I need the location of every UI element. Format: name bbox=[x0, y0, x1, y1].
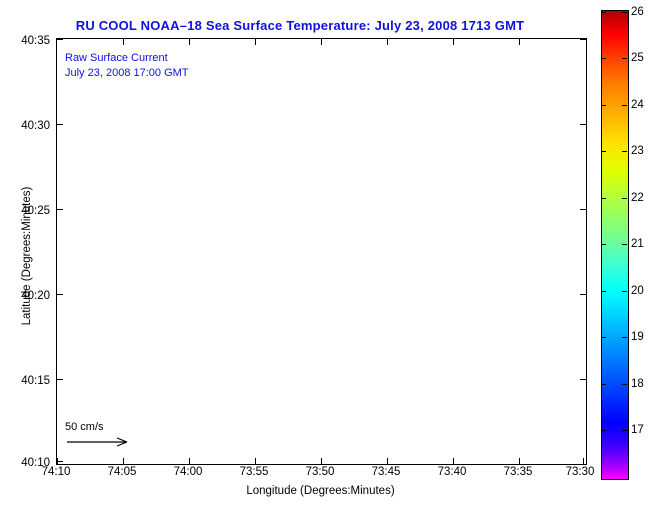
ytick-label: 40:30 bbox=[0, 120, 50, 132]
colorbar-label: 26 bbox=[631, 6, 644, 18]
colorbar-tick bbox=[601, 12, 606, 13]
xtick-label: 73:50 bbox=[306, 466, 335, 478]
colorbar-tick bbox=[601, 244, 606, 245]
xtick bbox=[189, 458, 190, 464]
xtick bbox=[123, 458, 124, 464]
xtick-top bbox=[321, 39, 322, 45]
colorbar-tick bbox=[601, 291, 606, 292]
colorbar-label: 22 bbox=[631, 192, 644, 204]
ytick bbox=[57, 39, 63, 40]
colorbar-tick-right bbox=[622, 291, 627, 292]
colorbar-tick bbox=[601, 430, 606, 431]
vector-scale-label: 50 cm/s bbox=[65, 421, 135, 433]
colorbar-tick bbox=[601, 58, 606, 59]
colorbar-tick bbox=[601, 105, 606, 106]
xtick-label: 73:45 bbox=[372, 466, 401, 478]
xtick bbox=[321, 458, 322, 464]
colorbar-tick bbox=[601, 151, 606, 152]
colorbar-label: 23 bbox=[631, 145, 644, 157]
colorbar-label: 25 bbox=[631, 52, 644, 64]
colorbar-label: 24 bbox=[631, 99, 644, 111]
ytick bbox=[57, 209, 63, 210]
ocean-background bbox=[57, 39, 586, 464]
ytick-label: 40:15 bbox=[0, 375, 50, 387]
y-axis-title: Latitude (Degrees:Minutes) bbox=[21, 146, 33, 366]
colorbar-tick-right bbox=[622, 58, 627, 59]
arrow-right-icon bbox=[65, 436, 135, 448]
xtick-label: 74:05 bbox=[108, 466, 137, 478]
xtick-label: 73:30 bbox=[566, 466, 595, 478]
ytick-right bbox=[580, 124, 586, 125]
colorbar-label: 19 bbox=[631, 331, 644, 343]
ytick-label: 40:35 bbox=[0, 35, 50, 47]
colorbar-tick bbox=[601, 337, 606, 338]
xtick-label: 73:40 bbox=[438, 466, 467, 478]
xtick bbox=[453, 458, 454, 464]
sst-map-figure: RU COOL NOAA–18 Sea Surface Temperature:… bbox=[0, 0, 651, 518]
colorbar-tick-right bbox=[622, 198, 627, 199]
colorbar-label: 18 bbox=[631, 378, 644, 390]
ytick bbox=[57, 294, 63, 295]
colorbar-tick-right bbox=[622, 430, 627, 431]
x-axis-title: Longitude (Degrees:Minutes) bbox=[56, 485, 585, 497]
xtick-label: 73:35 bbox=[504, 466, 533, 478]
xtick-top bbox=[255, 39, 256, 45]
xtick bbox=[387, 458, 388, 464]
colorbar-tick-right bbox=[622, 337, 627, 338]
ytick-right bbox=[580, 379, 586, 380]
colorbar-tick-right bbox=[622, 105, 627, 106]
ytick-right bbox=[580, 39, 586, 40]
xtick bbox=[519, 458, 520, 464]
colorbar-tick-right bbox=[622, 12, 627, 13]
ytick bbox=[57, 124, 63, 125]
colorbar-label: 20 bbox=[631, 285, 644, 297]
xtick-top bbox=[453, 39, 454, 45]
ytick bbox=[57, 379, 63, 380]
xtick-top bbox=[387, 39, 388, 45]
colorbar-tick-right bbox=[622, 384, 627, 385]
temperature-colorbar[interactable] bbox=[601, 10, 629, 480]
xtick-top bbox=[123, 39, 124, 45]
ytick bbox=[57, 461, 63, 462]
xtick-label: 74:00 bbox=[174, 466, 203, 478]
colorbar-tick-right bbox=[622, 151, 627, 152]
xtick bbox=[255, 458, 256, 464]
colorbar-label: 21 bbox=[631, 238, 644, 250]
colorbar-tick bbox=[601, 198, 606, 199]
colorbar-label: 17 bbox=[631, 424, 644, 436]
figure-title: RU COOL NOAA–18 Sea Surface Temperature:… bbox=[0, 18, 600, 33]
xtick bbox=[583, 458, 584, 464]
ytick-right bbox=[580, 294, 586, 295]
map-plot-area[interactable]: Raw Surface Current July 23, 2008 17:00 … bbox=[56, 38, 587, 465]
xtick-top bbox=[519, 39, 520, 45]
vector-scale-key: 50 cm/s bbox=[65, 421, 135, 448]
colorbar-tick-right bbox=[622, 244, 627, 245]
colorbar-tick bbox=[601, 384, 606, 385]
ytick-label: 40:10 bbox=[0, 457, 50, 469]
xtick-top bbox=[189, 39, 190, 45]
ytick-right bbox=[580, 209, 586, 210]
xtick-label: 73:55 bbox=[240, 466, 269, 478]
